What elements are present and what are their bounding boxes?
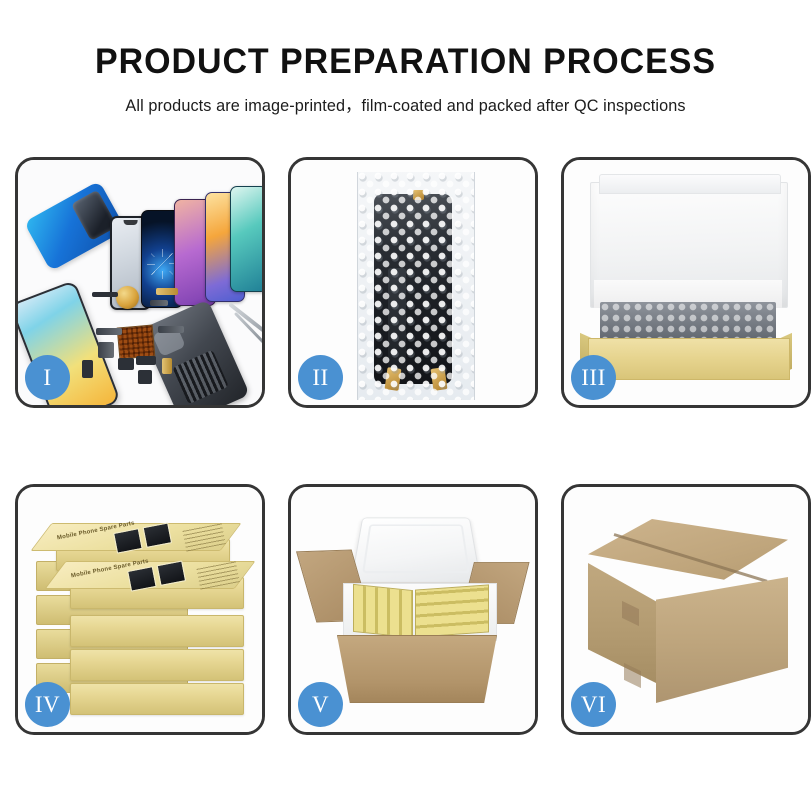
panel-badge: IV xyxy=(25,682,70,727)
tweezers-icon xyxy=(228,302,262,337)
process-panel-2[interactable]: II xyxy=(288,157,538,408)
box-spec-lines xyxy=(196,560,239,589)
process-panel-grid: I II III xyxy=(15,157,801,735)
sealed-carton-icon xyxy=(588,519,788,699)
box-top-face: Mobile Phone Spare Parts xyxy=(30,523,241,551)
box-top-face: Mobile Phone Spare Parts xyxy=(44,561,255,589)
panel-badge: VI xyxy=(571,682,616,727)
box-spec-lines xyxy=(182,522,225,551)
stacked-box xyxy=(70,683,244,715)
spare-part-icon xyxy=(92,292,118,297)
lid-top-edge xyxy=(599,174,781,194)
bubble-wrap-bag-icon xyxy=(357,172,475,400)
panel-badge: V xyxy=(298,682,343,727)
phone-back-housing-icon xyxy=(140,299,250,405)
spare-part-icon xyxy=(82,360,93,378)
stacked-box xyxy=(70,649,244,681)
phone-screen-teal-icon xyxy=(230,186,262,292)
logic-board-chip-icon xyxy=(117,324,156,359)
process-panel-1[interactable]: I xyxy=(15,157,265,408)
spare-part-icon xyxy=(150,300,168,306)
header: PRODUCT PREPARATION PROCESS All products… xyxy=(0,0,811,116)
spare-part-icon xyxy=(138,370,152,384)
spare-part-icon xyxy=(158,326,184,333)
page-subtitle: All products are image-printed，film-coat… xyxy=(6,92,805,116)
process-panel-4[interactable]: Mobile Phone Spare Parts Mobile Phone Sp… xyxy=(15,484,265,735)
crack-pattern-icon xyxy=(147,249,177,279)
carton-left-face xyxy=(588,563,656,683)
yellow-boxes-right-icon xyxy=(415,584,489,637)
page-title: PRODUCT PREPARATION PROCESS xyxy=(12,44,799,81)
speaker-module-icon xyxy=(116,286,139,309)
stacked-box: Mobile Phone Spare Parts xyxy=(70,577,244,609)
yellow-box-front-icon xyxy=(588,338,790,380)
spare-part-icon xyxy=(98,342,114,358)
notch-icon xyxy=(123,220,138,225)
bubble-highlights xyxy=(358,172,474,400)
process-panel-6[interactable]: VI xyxy=(561,484,811,735)
spare-part-icon xyxy=(156,288,178,295)
process-panel-3[interactable]: III xyxy=(561,157,811,408)
carton-front-wall xyxy=(337,635,497,703)
spare-part-icon xyxy=(136,356,156,365)
process-panel-5[interactable]: V xyxy=(288,484,538,735)
box-stack: Mobile Phone Spare Parts Mobile Phone Sp… xyxy=(34,515,254,715)
carton-right-face xyxy=(656,577,788,703)
spare-part-icon xyxy=(96,328,122,335)
panel-badge: II xyxy=(298,355,343,400)
yellow-boxes-left-icon xyxy=(353,584,413,638)
stacked-box xyxy=(70,615,244,647)
bubble-wrapped-contents-icon xyxy=(600,302,776,342)
panel-badge: III xyxy=(571,355,616,400)
panel-badge: I xyxy=(25,355,70,400)
foam-lid-icon xyxy=(351,518,482,583)
spare-part-icon xyxy=(162,358,172,374)
spare-part-icon xyxy=(118,358,134,370)
